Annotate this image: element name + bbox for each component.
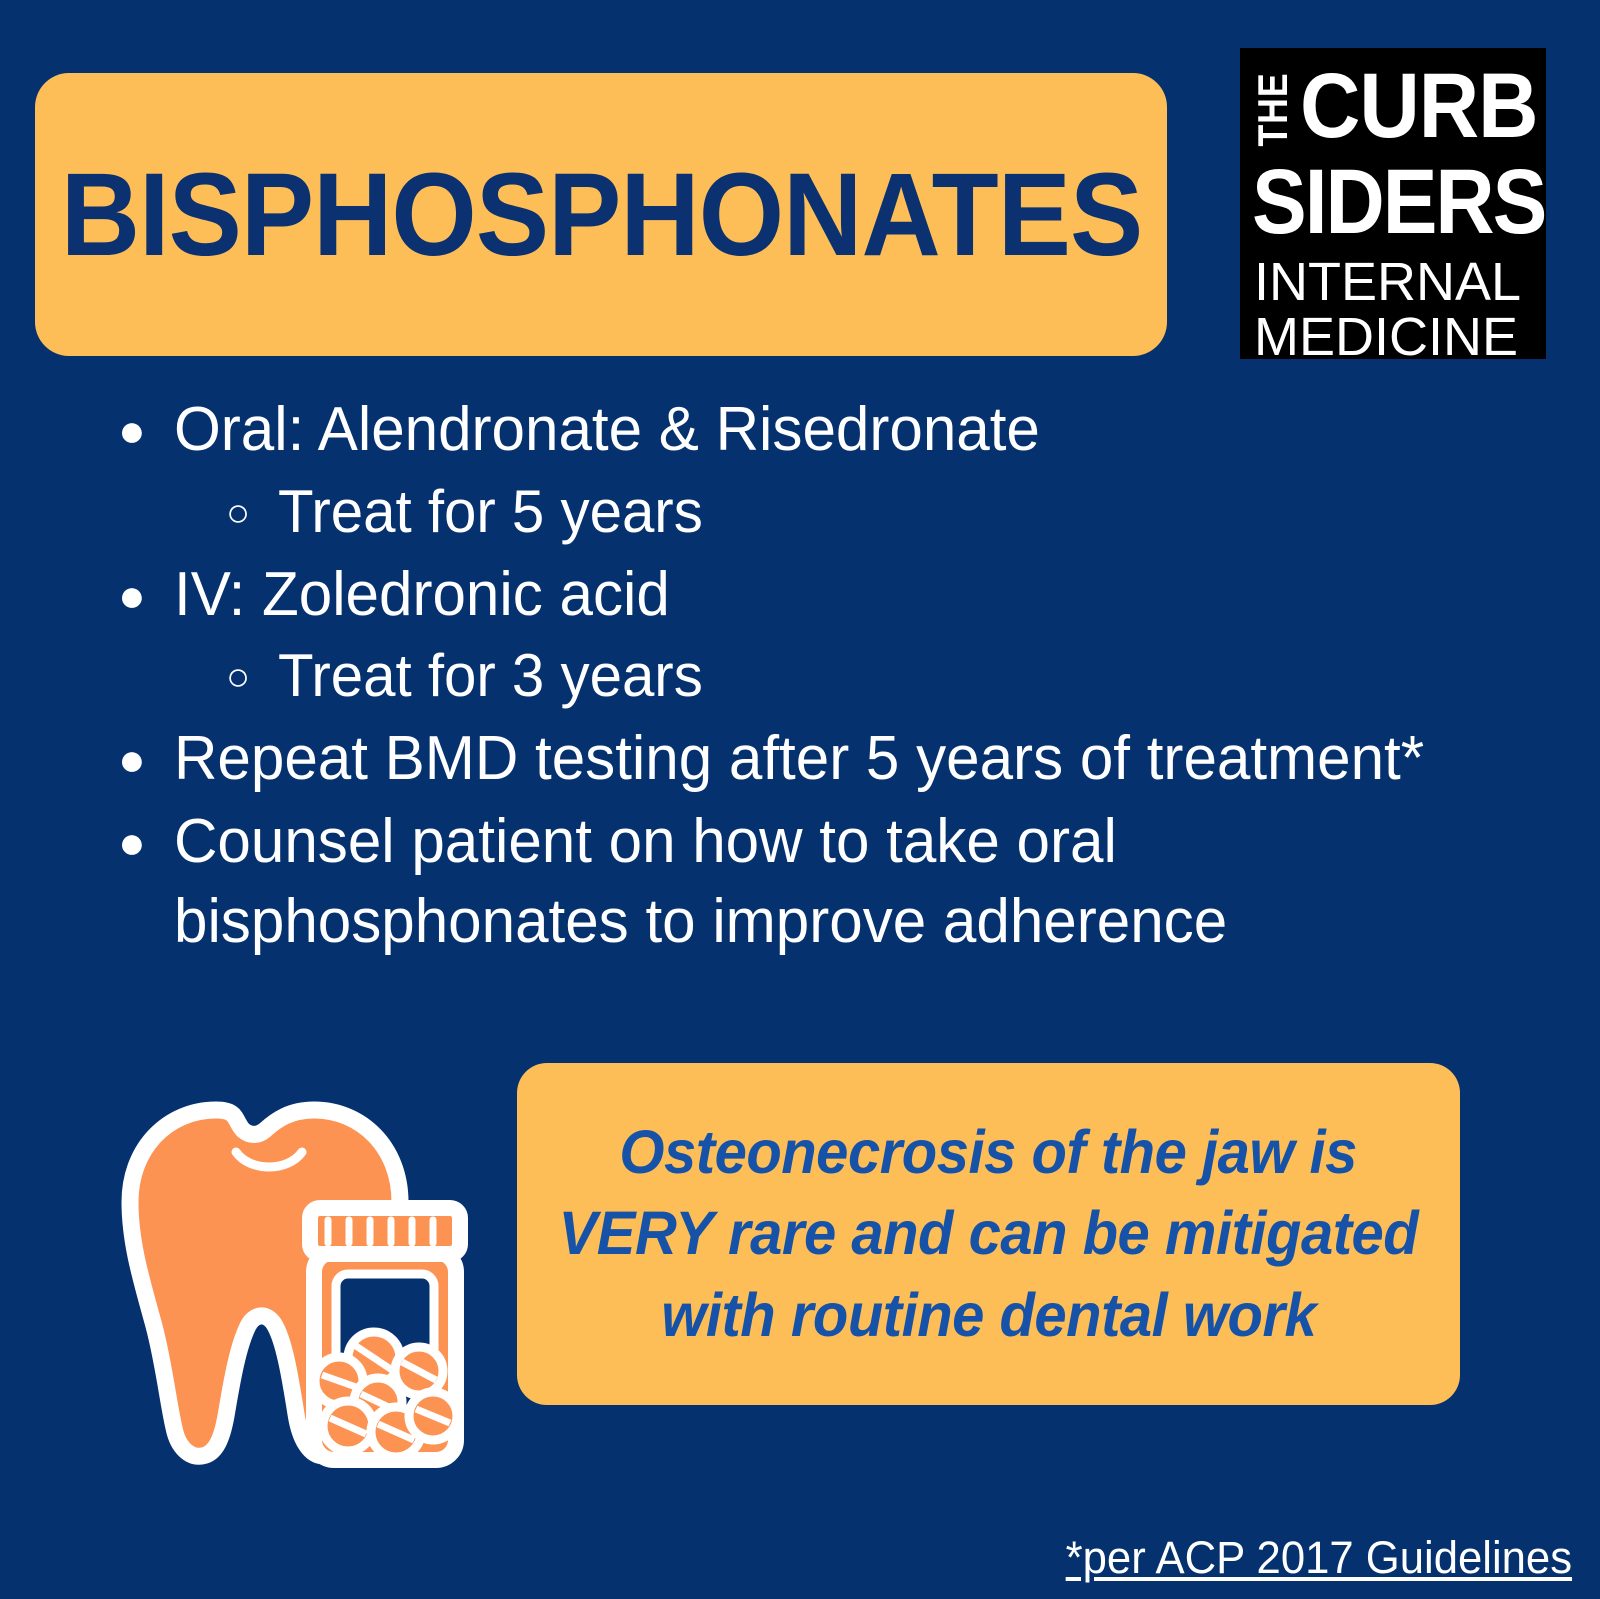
curbsiders-logo: THE CURB SIDERS INTERNAL MEDICINE bbox=[1240, 48, 1546, 359]
list-item-label: Oral: Alendronate & Risedronate bbox=[174, 390, 1497, 471]
tooth-and-pill-bottle-icon bbox=[108, 1068, 498, 1468]
logo-internal-text: INTERNAL bbox=[1254, 255, 1521, 309]
logo-siders-text: SIDERS bbox=[1252, 160, 1545, 244]
callout-box: Osteonecrosis of the jaw is VERY rare an… bbox=[517, 1063, 1460, 1405]
infographic-slide: BISPHOSPHONATES THE CURB SIDERS INTERNAL… bbox=[0, 0, 1600, 1599]
list-item: ○ Treat for 5 years bbox=[118, 473, 1538, 553]
list-item-label: Repeat BMD testing after 5 years of trea… bbox=[174, 719, 1497, 800]
list-item: ● Repeat BMD testing after 5 years of tr… bbox=[118, 719, 1538, 800]
callout-line: with routine dental work bbox=[661, 1275, 1316, 1356]
pill-bottle-shape bbox=[310, 1208, 460, 1460]
filled-bullet-icon: ● bbox=[118, 555, 174, 635]
hollow-bullet-icon: ○ bbox=[226, 473, 278, 553]
list-item: ● Oral: Alendronate & Risedronate bbox=[118, 390, 1538, 471]
list-item-label: Treat for 3 years bbox=[278, 637, 1500, 715]
list-item-label: Treat for 5 years bbox=[278, 473, 1500, 551]
page-title: BISPHOSPHONATES bbox=[60, 156, 1142, 274]
tooth-pill-bottle-svg bbox=[108, 1068, 498, 1468]
filled-bullet-icon: ● bbox=[118, 719, 174, 799]
list-item-label: Counsel patient on how to take oral bisp… bbox=[174, 802, 1497, 963]
list-item-label: IV: Zoledronic acid bbox=[174, 555, 1497, 636]
title-banner: BISPHOSPHONATES bbox=[35, 73, 1167, 356]
list-item: ● IV: Zoledronic acid bbox=[118, 555, 1538, 636]
bullet-list: ● Oral: Alendronate & Risedronate ○ Trea… bbox=[118, 390, 1538, 965]
callout-line: Osteonecrosis of the jaw is bbox=[620, 1112, 1358, 1193]
list-item: ○ Treat for 3 years bbox=[118, 637, 1538, 717]
hollow-bullet-icon: ○ bbox=[226, 637, 278, 717]
filled-bullet-icon: ● bbox=[118, 390, 174, 470]
logo-curb-text: CURB bbox=[1300, 64, 1538, 148]
filled-bullet-icon: ● bbox=[118, 802, 174, 882]
footnote-source: *per ACP 2017 Guidelines bbox=[1066, 1531, 1572, 1585]
callout-line: VERY rare and can be mitigated bbox=[559, 1193, 1419, 1274]
logo-the-text: THE bbox=[1252, 73, 1294, 147]
list-item: ● Counsel patient on how to take oral bi… bbox=[118, 802, 1538, 963]
logo-medicine-text: MEDICINE bbox=[1254, 310, 1518, 359]
